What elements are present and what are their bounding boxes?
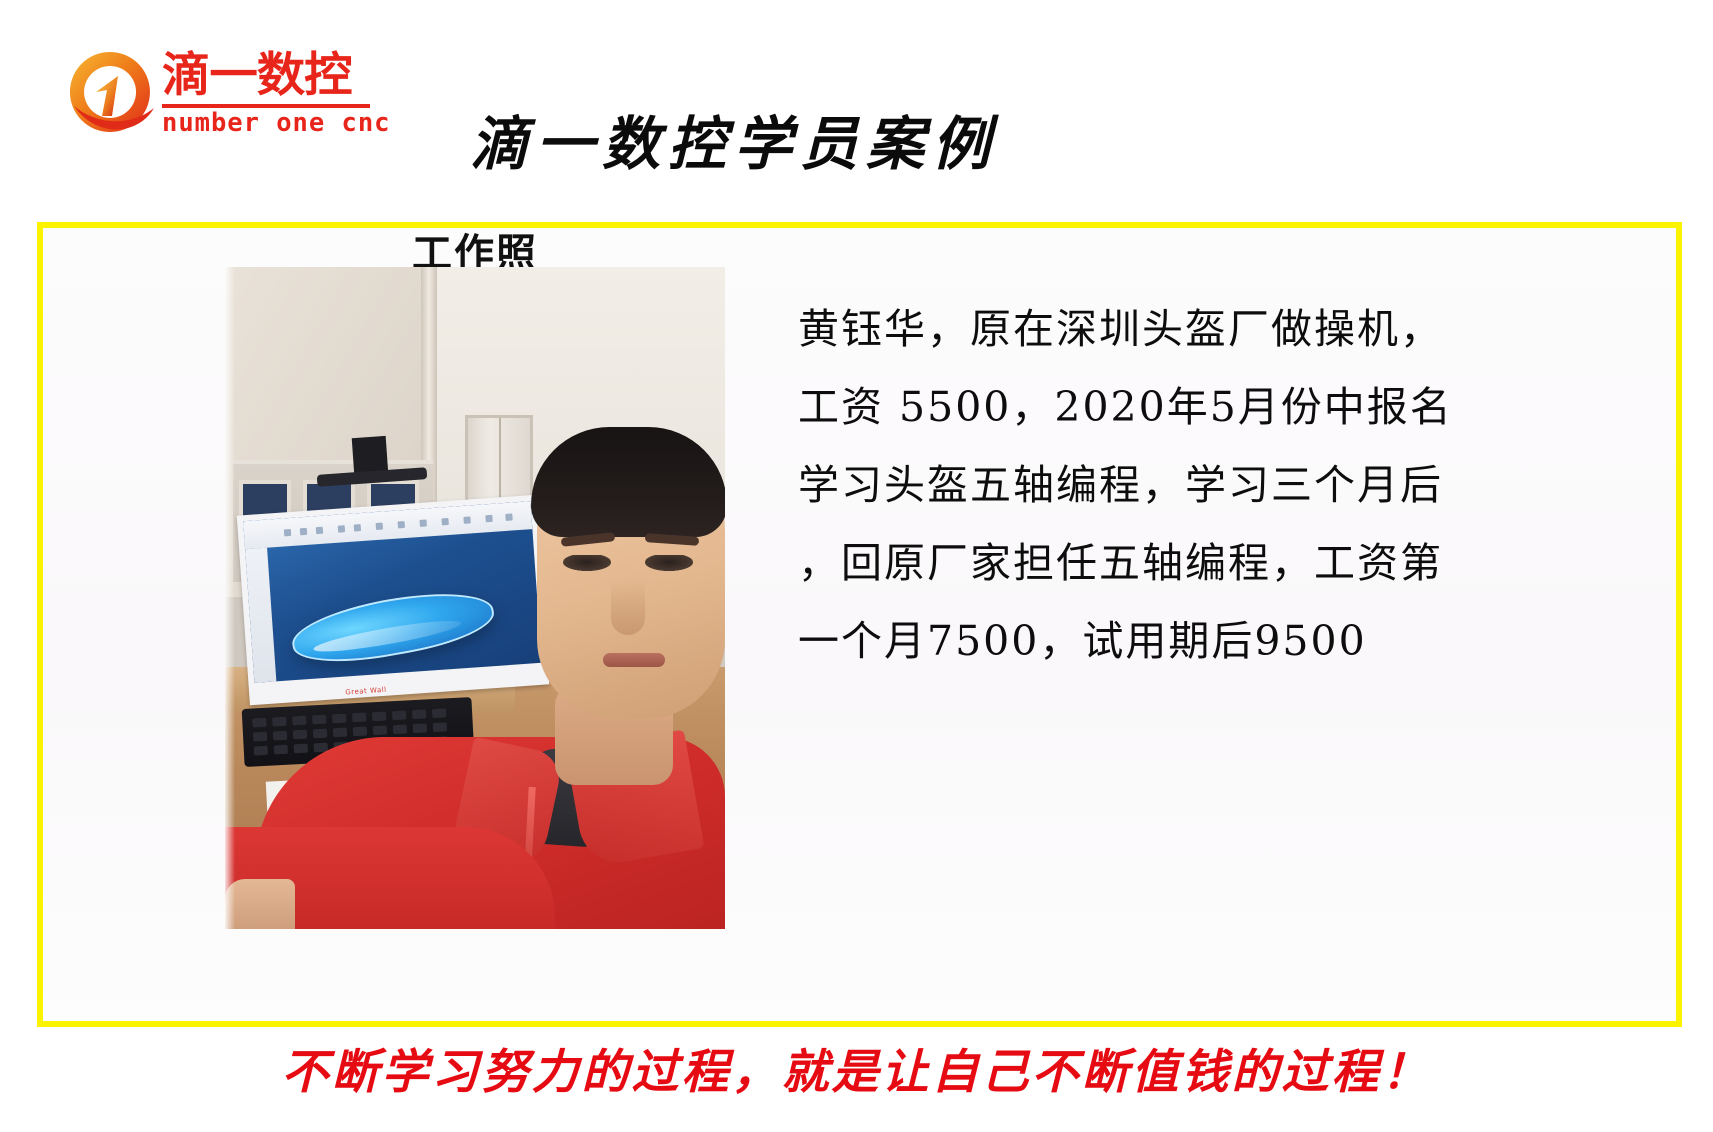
- story-line: ，回原厂家担任五轴编程，工资第: [798, 524, 1538, 602]
- photo-person-hand: [225, 879, 295, 929]
- photo-person-eye: [645, 555, 693, 571]
- slide-root: 滴一数控 number one cnc 滴一数控学员案例 工作照: [0, 0, 1713, 1132]
- brand-logo-text: 滴一数控 number one cnc: [162, 50, 374, 142]
- page-title: 滴一数控学员案例: [470, 108, 1090, 180]
- photo-person-mouth: [603, 653, 665, 667]
- student-story-text: 黄钰华，原在深圳头盔厂做操机， 工资 5500，2020年5月份中报名 学习头盔…: [798, 290, 1538, 680]
- story-line: 一个月7500，试用期后9500: [798, 602, 1538, 680]
- circle-one-swoosh-logo-icon: [62, 46, 158, 142]
- photo-left-edge-highlight: [225, 267, 235, 929]
- story-line: 学习头盔五轴编程，学习三个月后: [798, 446, 1538, 524]
- photo-person-nose: [611, 579, 645, 635]
- brand-logo: 滴一数控 number one cnc: [62, 44, 372, 144]
- photo-monitor: Great Wall: [237, 495, 550, 705]
- photo-cad-helmet-model: [288, 582, 499, 673]
- photo-monitor-screen: [243, 501, 542, 683]
- story-line: 工资 5500，2020年5月份中报名: [798, 368, 1538, 446]
- footer-slogan: 不断学习努力的过程，就是让自己不断值钱的过程！: [0, 1044, 1713, 1102]
- photo-person-eye: [563, 555, 611, 571]
- story-line: 黄钰华，原在深圳头盔厂做操机，: [798, 290, 1538, 368]
- photo-person-hair: [531, 427, 725, 537]
- brand-name-en: number one cnc: [162, 109, 370, 137]
- photo-monitor-brand-label: Great Wall: [345, 686, 387, 697]
- brand-name-cn: 滴一数控: [162, 50, 380, 102]
- student-work-photo: Great Wall: [225, 267, 725, 929]
- photo-cad-sidebar: [245, 548, 276, 683]
